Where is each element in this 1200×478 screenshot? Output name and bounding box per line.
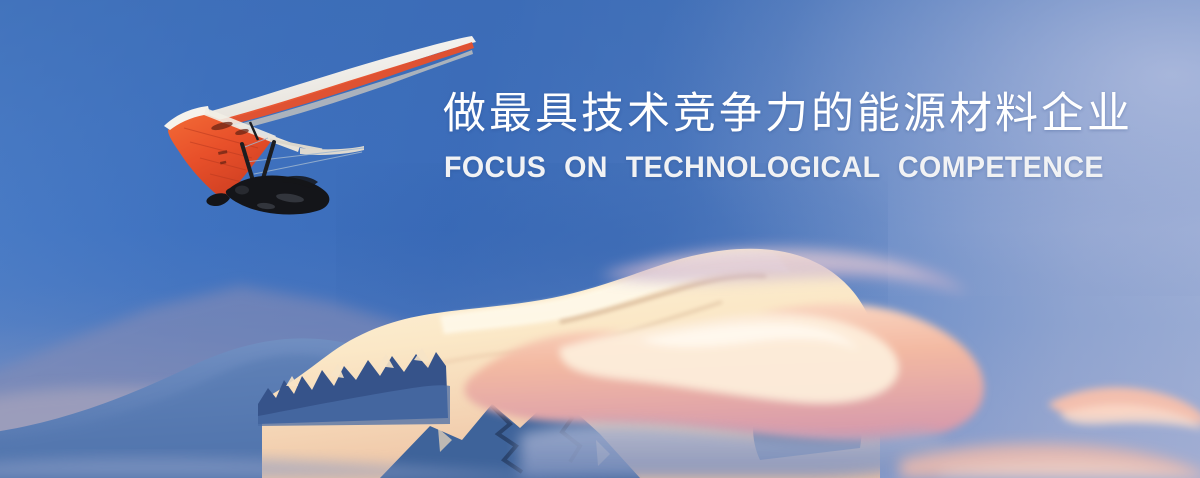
cloud-right-small bbox=[1048, 387, 1200, 430]
mountain-cloud-scene bbox=[0, 228, 1200, 478]
headline-english: FOCUS ON TECHNOLOGICAL COMPETENCE bbox=[444, 151, 1155, 185]
right-wing-white bbox=[186, 36, 476, 128]
hang-glider bbox=[150, 22, 490, 222]
cloud-bottom-right bbox=[900, 444, 1200, 478]
headline-chinese: 做最具技术竞争力的能源材料企业 bbox=[443, 86, 1188, 142]
right-wing-stripe bbox=[194, 42, 474, 132]
hero-banner: 做最具技术竞争力的能源材料企业 FOCUS ON TECHNOLOGICAL C… bbox=[0, 0, 1200, 478]
headline-block: 做最具技术竞争力的能源材料企业 FOCUS ON TECHNOLOGICAL C… bbox=[443, 86, 1188, 185]
